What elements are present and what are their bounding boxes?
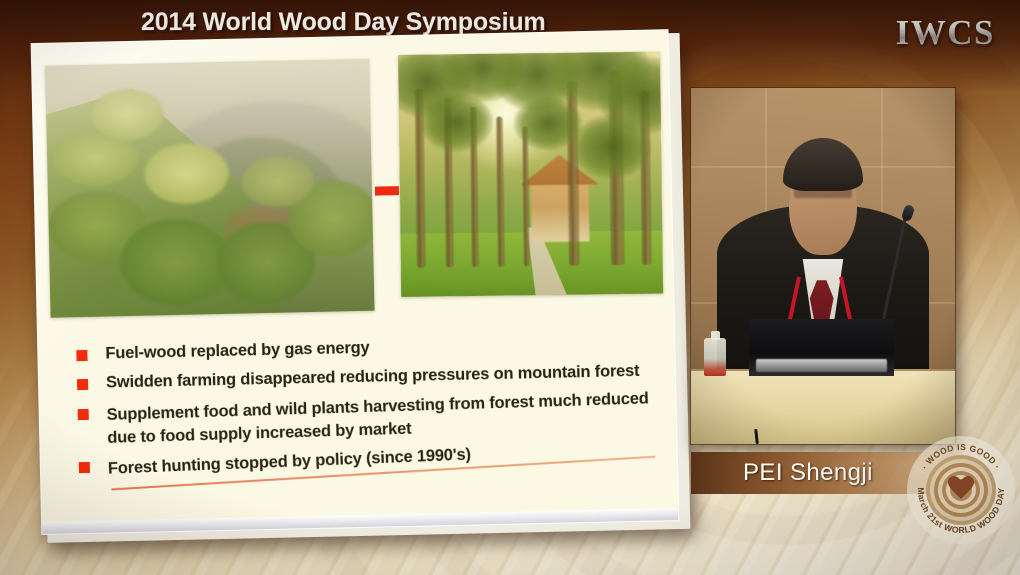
speaker-name: PEI Shengji <box>691 459 873 487</box>
iwcs-logo: IWCS <box>896 13 995 53</box>
speaker-video-panel <box>691 88 955 444</box>
red-connector-bar <box>375 186 399 196</box>
list-item: Supplement food and wild plants harvesti… <box>77 389 678 449</box>
palm-grove-scene <box>398 52 663 297</box>
bullet-text: Supplement food and wild plants harvesti… <box>106 387 652 450</box>
slide-surface: Fuel-wood replaced by gas energy Swidden… <box>31 29 680 535</box>
warm-color-cast <box>398 52 663 297</box>
bullet-marker-icon <box>77 379 88 390</box>
warm-color-cast <box>45 59 374 318</box>
presentation-slide: Fuel-wood replaced by gas energy Swidden… <box>31 29 687 543</box>
presentation-recording-frame: 2014 World Wood Day Symposium IWCS <box>0 0 1020 575</box>
slide-photo-row <box>32 46 676 328</box>
palm-grove-photo <box>398 52 663 297</box>
bullet-text: Fuel-wood replaced by gas energy <box>105 337 370 366</box>
forest-scene <box>45 59 374 318</box>
bullet-marker-icon <box>79 462 90 473</box>
bullet-marker-icon <box>76 350 87 361</box>
mountain-forest-photo <box>45 59 374 318</box>
panel-vignette <box>691 88 955 444</box>
world-wood-day-logo: · WOOD IS GOOD · March 21st WORLD WOOD D… <box>905 434 1017 546</box>
bullet-marker-icon <box>78 409 89 420</box>
